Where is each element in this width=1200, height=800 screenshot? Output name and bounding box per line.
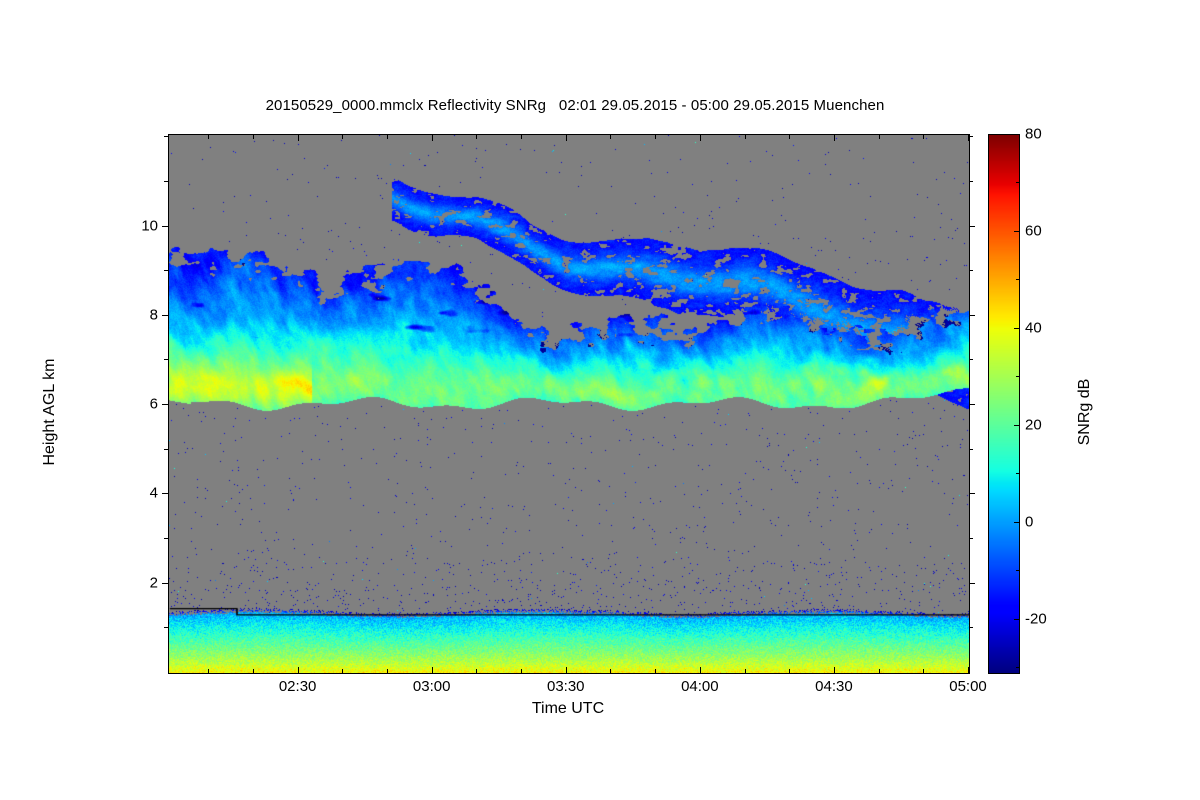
plot-area xyxy=(168,134,970,674)
plot-title: 20150529_0000.mmclx Reflectivity SNRg 02… xyxy=(0,97,1150,114)
y-tick-label: 4 xyxy=(118,485,158,502)
y-tick-minor xyxy=(164,181,168,182)
y-tick-minor-right xyxy=(969,181,973,182)
x-tick-minor xyxy=(610,669,611,673)
reflectivity-heatmap xyxy=(169,135,969,673)
colorbar-tick-label: 0 xyxy=(1025,513,1033,530)
x-tick-label: 04:30 xyxy=(815,678,853,695)
colorbar xyxy=(988,134,1020,674)
x-tick-minor-top xyxy=(655,135,656,139)
colorbar-tick-label: -20 xyxy=(1025,610,1047,627)
y-tick-label: 8 xyxy=(118,306,158,323)
x-tick-minor-top xyxy=(879,135,880,139)
y-tick-major-right xyxy=(969,583,975,584)
y-tick-minor xyxy=(164,627,168,628)
x-tick-major xyxy=(432,667,433,673)
y-tick-minor xyxy=(164,270,168,271)
y-tick-minor-right xyxy=(969,359,973,360)
y-tick-minor-right xyxy=(969,449,973,450)
x-tick-label: 05:00 xyxy=(949,678,987,695)
y-tick-label: 10 xyxy=(118,217,158,234)
y-tick-major-right xyxy=(969,315,975,316)
x-tick-minor-top xyxy=(342,135,343,139)
y-tick-major-right xyxy=(969,404,975,405)
x-tick-major xyxy=(298,667,299,673)
x-tick-minor-top xyxy=(387,135,388,139)
colorbar-tick xyxy=(1014,619,1019,620)
y-tick-major-right xyxy=(969,226,975,227)
colorbar-tick-minor xyxy=(1016,570,1019,571)
y-tick-major xyxy=(162,493,168,494)
y-tick-major-right xyxy=(969,493,975,494)
x-tick-major-top xyxy=(968,135,969,141)
colorbar-tick-label: 40 xyxy=(1025,319,1042,336)
x-tick-minor-top xyxy=(253,135,254,139)
x-tick-minor xyxy=(879,669,880,673)
x-axis-label: Time UTC xyxy=(168,700,968,718)
colorbar-tick xyxy=(1014,134,1019,135)
x-tick-minor xyxy=(253,669,254,673)
colorbar-tick-label: 80 xyxy=(1025,126,1042,143)
colorbar-gradient xyxy=(989,135,1019,673)
x-tick-major xyxy=(700,667,701,673)
x-tick-minor xyxy=(387,669,388,673)
colorbar-tick-minor xyxy=(1016,473,1019,474)
colorbar-tick-minor xyxy=(1016,279,1019,280)
y-tick-minor xyxy=(164,136,168,137)
colorbar-tick xyxy=(1014,425,1019,426)
y-tick-minor-right xyxy=(969,270,973,271)
y-tick-minor-right xyxy=(969,538,973,539)
y-tick-minor xyxy=(164,359,168,360)
x-tick-minor-top xyxy=(745,135,746,139)
x-tick-minor xyxy=(208,669,209,673)
colorbar-tick-minor xyxy=(1016,667,1019,668)
colorbar-label: SNRg dB xyxy=(1076,302,1094,522)
colorbar-tick-label: 20 xyxy=(1025,416,1042,433)
x-tick-major xyxy=(834,667,835,673)
x-tick-major-top xyxy=(700,135,701,141)
x-tick-minor xyxy=(655,669,656,673)
x-tick-label: 04:00 xyxy=(681,678,719,695)
x-tick-label: 02:30 xyxy=(279,678,317,695)
y-tick-minor xyxy=(164,449,168,450)
colorbar-tick xyxy=(1014,231,1019,232)
y-tick-major xyxy=(162,583,168,584)
y-tick-label: 6 xyxy=(118,396,158,413)
x-tick-minor-top xyxy=(789,135,790,139)
x-tick-minor xyxy=(342,669,343,673)
x-tick-major-top xyxy=(834,135,835,141)
x-tick-minor-top xyxy=(476,135,477,139)
x-tick-minor xyxy=(789,669,790,673)
y-axis-label: Height AGL km xyxy=(41,302,59,522)
colorbar-tick-label: 60 xyxy=(1025,222,1042,239)
x-tick-major-top xyxy=(566,135,567,141)
x-tick-minor-top xyxy=(923,135,924,139)
y-tick-minor-right xyxy=(969,136,973,137)
y-tick-minor xyxy=(164,538,168,539)
y-tick-major xyxy=(162,226,168,227)
x-tick-minor-top xyxy=(208,135,209,139)
y-tick-major xyxy=(162,404,168,405)
x-tick-minor xyxy=(521,669,522,673)
y-tick-major xyxy=(162,315,168,316)
x-tick-major xyxy=(566,667,567,673)
y-tick-minor-right xyxy=(969,627,973,628)
radar-reflectivity-figure: 20150529_0000.mmclx Reflectivity SNRg 02… xyxy=(0,0,1200,800)
colorbar-tick xyxy=(1014,328,1019,329)
x-tick-major-top xyxy=(298,135,299,141)
x-tick-minor xyxy=(745,669,746,673)
x-tick-minor-top xyxy=(521,135,522,139)
x-tick-major xyxy=(968,667,969,673)
colorbar-tick-minor xyxy=(1016,182,1019,183)
x-tick-minor xyxy=(476,669,477,673)
colorbar-tick-minor xyxy=(1016,376,1019,377)
x-tick-minor xyxy=(923,669,924,673)
colorbar-tick xyxy=(1014,522,1019,523)
x-tick-label: 03:00 xyxy=(413,678,451,695)
y-tick-label: 2 xyxy=(118,574,158,591)
x-tick-label: 03:30 xyxy=(547,678,585,695)
x-tick-major-top xyxy=(432,135,433,141)
x-tick-minor-top xyxy=(610,135,611,139)
